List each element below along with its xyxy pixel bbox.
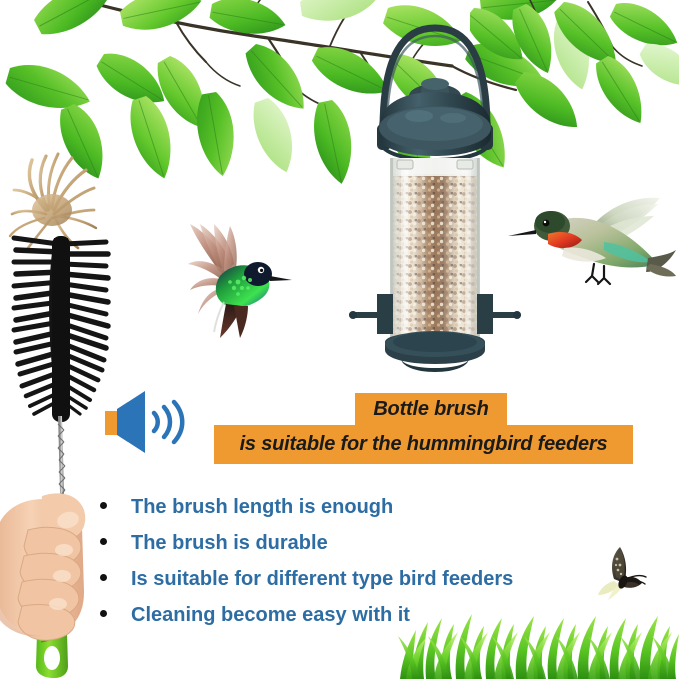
feature-text: The brush length is enough <box>131 496 393 519</box>
product-poster: Bottle brush is suitable for the humming… <box>0 0 679 679</box>
bird-feeder-icon <box>345 12 525 377</box>
banner-title-bottom: is suitable for the hummingbird feeders <box>214 425 633 464</box>
speaker-announcement-icon <box>103 389 195 455</box>
feature-list-item: The brush is durable <box>100 532 570 568</box>
bullet-dot-icon <box>100 538 107 545</box>
feature-text: The brush is durable <box>131 532 328 555</box>
feature-list: The brush length is enough The brush is … <box>100 496 570 640</box>
bullet-dot-icon <box>100 610 107 617</box>
banner-title-top-text: Bottle brush <box>373 398 488 421</box>
feature-text: Is suitable for different type bird feed… <box>131 568 513 591</box>
banner-title-bottom-text: is suitable for the hummingbird feeders <box>240 433 608 456</box>
banner-title-top: Bottle brush <box>355 393 507 426</box>
hummingbird-icon <box>508 192 676 298</box>
feature-text: Cleaning become easy with it <box>131 604 410 627</box>
feature-list-item: Cleaning become easy with it <box>100 604 570 640</box>
feature-list-item: The brush length is enough <box>100 496 570 532</box>
hummingbird-icon <box>168 216 294 338</box>
butterfly-icon <box>592 545 650 600</box>
feature-list-item: Is suitable for different type bird feed… <box>100 568 570 604</box>
bullet-dot-icon <box>100 574 107 581</box>
bullet-dot-icon <box>100 502 107 509</box>
